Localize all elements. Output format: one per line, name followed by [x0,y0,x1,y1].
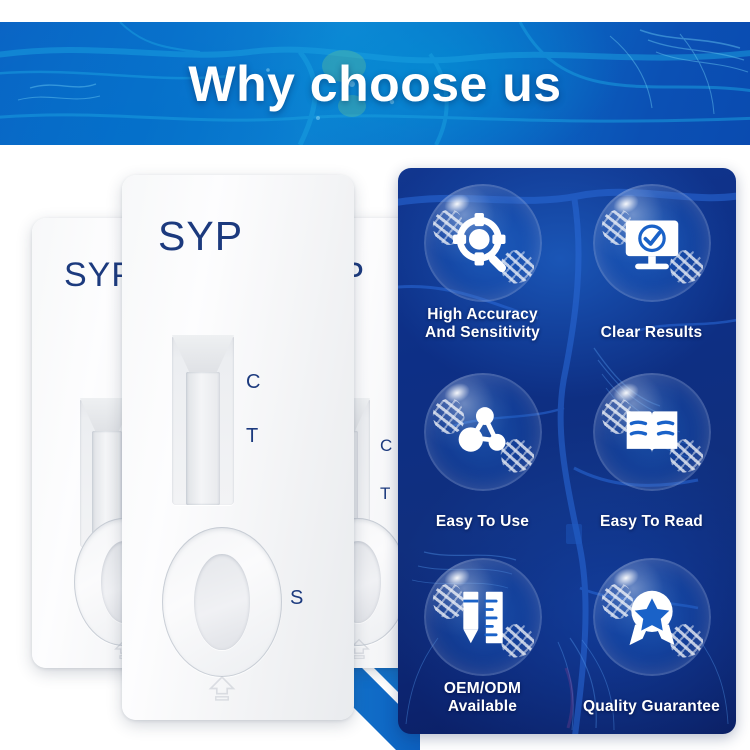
award-star-icon [622,587,682,647]
control-line-mark-center: C [246,371,260,394]
magnifier-target-icon [453,213,513,273]
bubble-5 [424,558,542,676]
bubble-3 [424,373,542,491]
feature-easy-to-use[interactable]: Easy To Use [398,373,567,531]
header-banner: Why choose us [0,22,750,145]
bubble-4 [593,373,711,491]
promo-graphic: Why choose us SYP C T SYP C T S [0,0,750,750]
sample-well-mark-center: S [290,587,303,610]
features-panel: High Accuracy And Sensitivity [398,168,736,734]
feature-label: Easy To Use [398,513,567,531]
feature-label: High Accuracy And Sensitivity [398,306,567,343]
molecule-icon [453,402,513,462]
pencil-ruler-icon [453,587,513,647]
bubble-6 [593,558,711,676]
cassette-brand-center: SYP [158,213,243,260]
control-line-mark-right: C [380,436,392,456]
test-strip [186,372,221,505]
test-line-mark-right: T [380,484,390,504]
feature-clear-results[interactable]: Clear Results [567,184,736,342]
feature-quality-guarantee[interactable]: Quality Guarantee [567,558,736,716]
sample-well-center [162,527,282,677]
sample-arrow-icon [206,675,238,702]
test-cassette-center: SYP C T S [122,175,354,720]
feature-label: Clear Results [567,324,736,342]
result-window-center [172,335,234,505]
feature-high-accuracy[interactable]: High Accuracy And Sensitivity [398,184,567,343]
feature-label: Quality Guarantee [567,698,736,716]
feature-label: Easy To Read [567,513,736,531]
bubble-2 [593,184,711,302]
open-book-icon [622,402,682,462]
feature-oem-odm[interactable]: OEM/ODM Available [398,558,567,717]
page-title: Why choose us [0,22,750,145]
monitor-check-icon [622,213,682,273]
bubble-1 [424,184,542,302]
feature-grid: High Accuracy And Sensitivity [398,168,736,734]
feature-label: OEM/ODM Available [398,680,567,717]
test-line-mark-center: T [246,425,258,448]
feature-easy-to-read[interactable]: Easy To Read [567,373,736,531]
